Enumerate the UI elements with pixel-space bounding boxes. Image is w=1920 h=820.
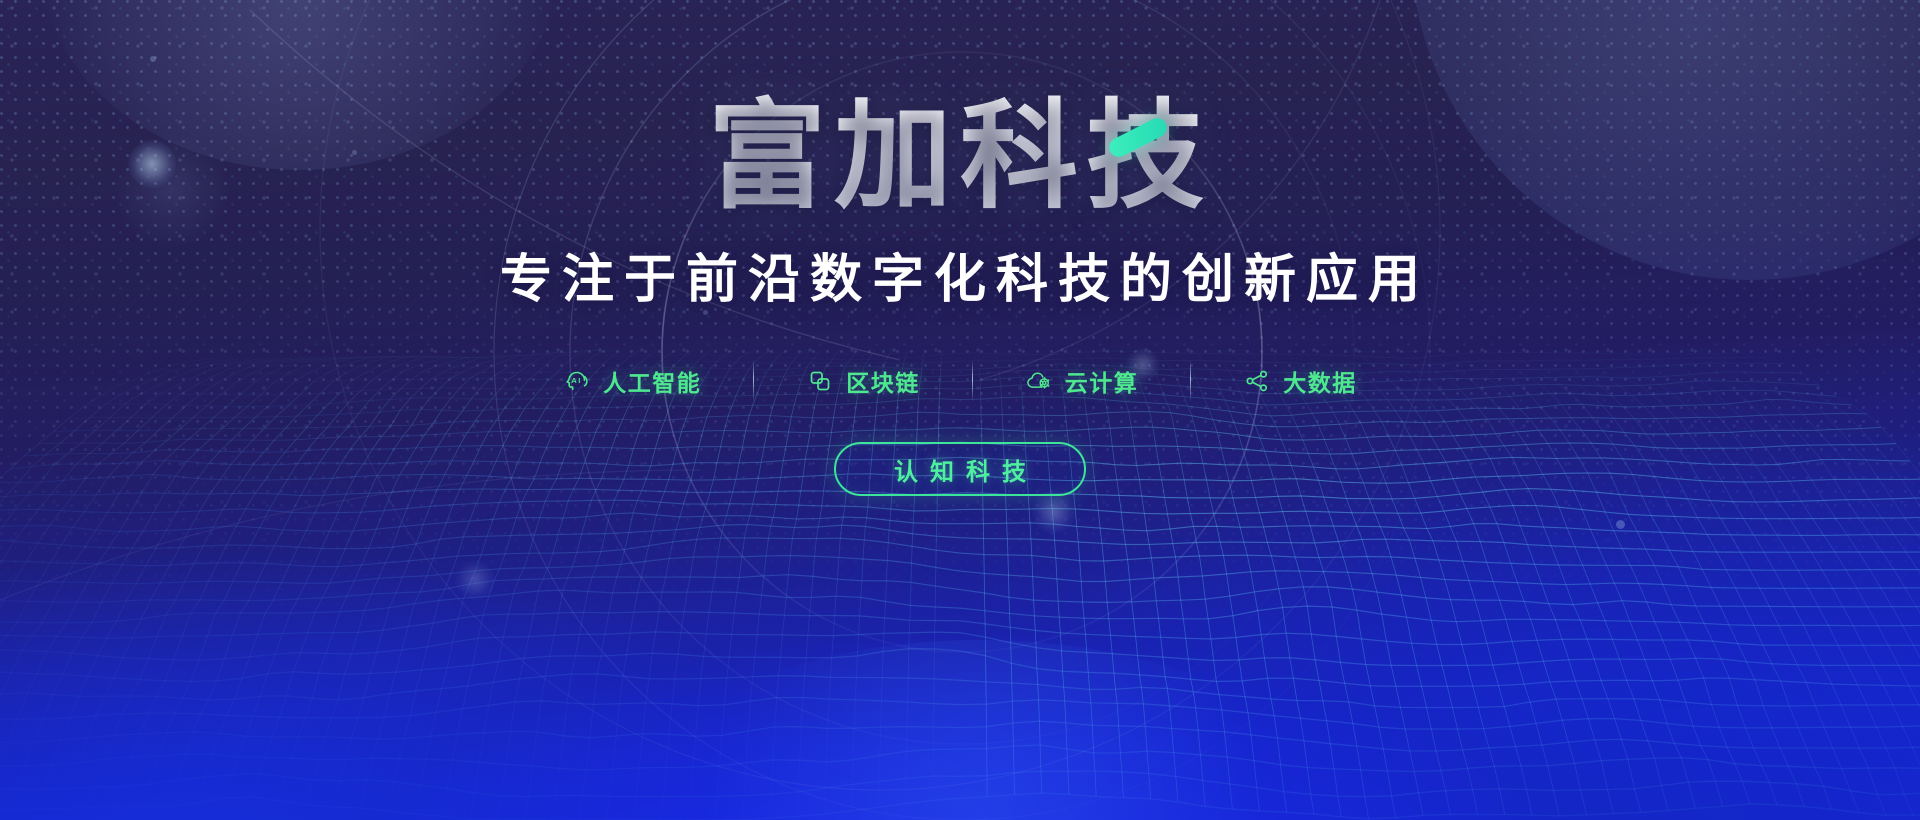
- svg-text:AI: AI: [572, 377, 583, 386]
- feature-tag-label: 人工智能: [603, 364, 701, 398]
- hero-content: 富加科技 专注于前沿数字化科技的创新应用 AI 人工智能: [0, 0, 1920, 496]
- feature-tag-list: AI 人工智能 区块链: [511, 360, 1409, 402]
- cloud-gear-icon: [1025, 367, 1053, 395]
- hero-banner: 富加科技 专注于前沿数字化科技的创新应用 AI 人工智能: [0, 0, 1920, 820]
- feature-tag-cloud[interactable]: 云计算: [973, 364, 1191, 398]
- brand-title-text: 富加科技: [708, 91, 1212, 223]
- brand-title: 富加科技: [704, 94, 1216, 221]
- share-nodes-icon: [1243, 367, 1271, 395]
- ai-head-icon: AI: [563, 367, 591, 395]
- feature-tag-blockchain[interactable]: 区块链: [754, 364, 972, 398]
- feature-tag-bigdata[interactable]: 大数据: [1191, 364, 1409, 398]
- hero-subtitle: 专注于前沿数字化科技的创新应用: [490, 237, 1430, 312]
- feature-tag-label: 云计算: [1065, 364, 1139, 398]
- feature-tag-ai[interactable]: AI 人工智能: [511, 364, 753, 398]
- feature-tag-label: 大数据: [1283, 364, 1357, 398]
- feature-tag-label: 区块链: [846, 364, 920, 398]
- cognitive-tech-button[interactable]: 认知科技: [834, 442, 1086, 496]
- blockchain-blocks-icon: [806, 367, 834, 395]
